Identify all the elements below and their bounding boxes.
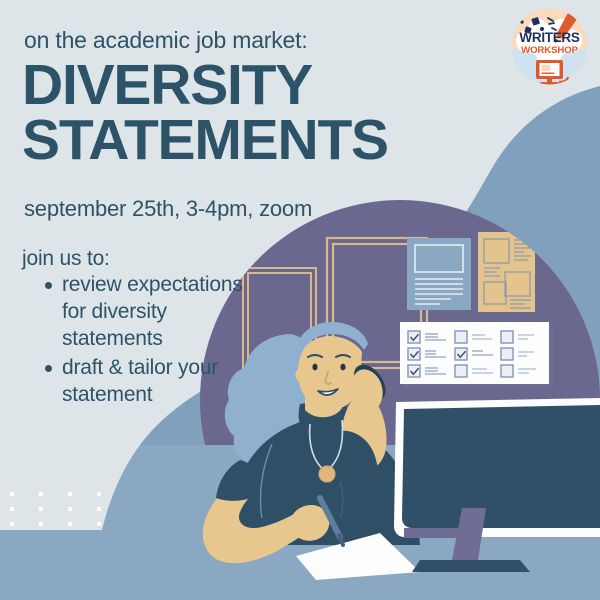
headline-line-2: STATEMENTS (22, 113, 452, 168)
eye-right (340, 364, 345, 371)
document-blue (407, 238, 471, 310)
agenda-list: review expectations for diversity statem… (40, 272, 244, 410)
document-tan (478, 232, 535, 312)
join-us-label: join us to: (22, 247, 110, 271)
logo-line-1: WRITERS (519, 30, 579, 45)
poster-canvas: on the academic job market: DIVERSITY ST… (0, 0, 600, 600)
monitor-screen (402, 405, 600, 528)
list-item: draft & tailor your statement (62, 355, 244, 409)
monitor-base (412, 560, 530, 572)
eye-left (312, 364, 317, 371)
necklace-pendant (319, 466, 335, 482)
monitor-shadow-bar (404, 528, 464, 538)
eyebrow-text: on the academic job market: (24, 28, 308, 52)
event-dateline: september 25th, 3-4pm, zoom (24, 196, 312, 222)
checklist-board (400, 322, 553, 387)
writers-workshop-logo[interactable]: WRITERS WORKSHOP (508, 5, 591, 88)
logo-artwork: WRITERS WORKSHOP (508, 5, 591, 88)
logo-line-2: WORKSHOP (521, 45, 578, 56)
page-title: DIVERSITY STATEMENTS (22, 58, 452, 169)
list-item: review expectations for diversity statem… (62, 272, 244, 353)
